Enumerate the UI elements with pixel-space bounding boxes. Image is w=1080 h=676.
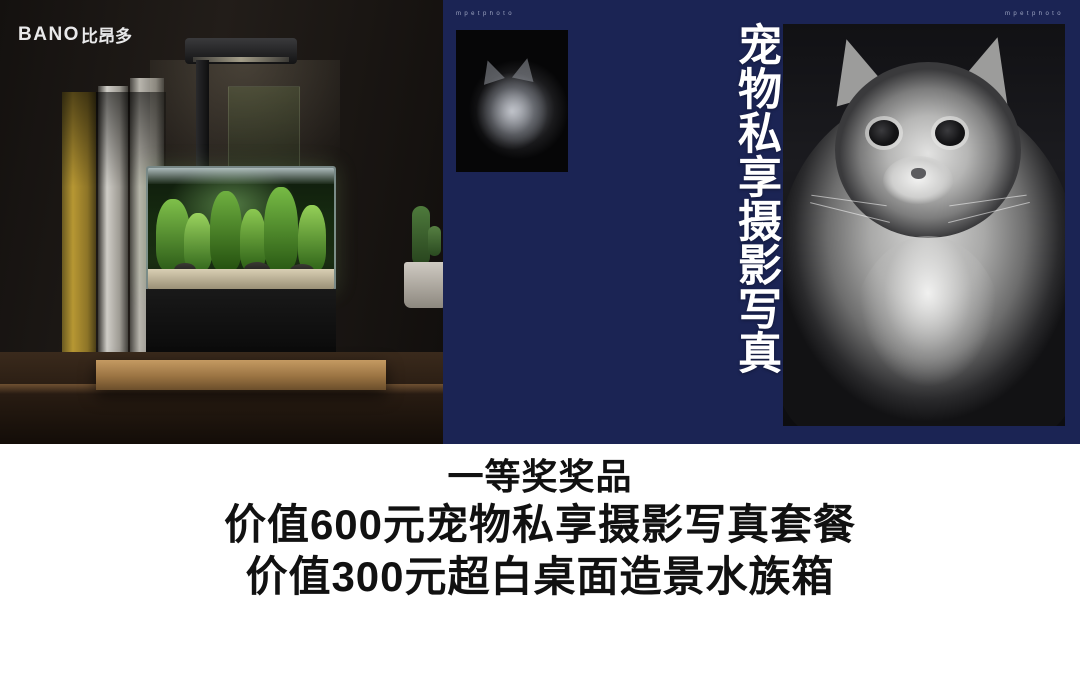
watermark-right: mpetphoto <box>1005 11 1064 17</box>
cat-nose <box>911 168 926 179</box>
aquatic-plant <box>184 213 212 271</box>
brand-logo-chinese: 比昂多 <box>81 22 132 47</box>
wooden-platform <box>96 360 386 390</box>
cat-portrait-photo <box>783 24 1065 426</box>
brand-logo-latin: BANO <box>18 24 80 46</box>
watermark-left: mpetphoto <box>456 11 515 17</box>
tank-top-glass <box>148 168 334 184</box>
tank-sand-bed <box>148 269 334 289</box>
book-spine: Decoration <box>98 86 128 364</box>
plant-pot <box>404 262 443 308</box>
prize-caption: 一等奖奖品 价值600元宠物私享摄影写真套餐 价值300元超白桌面造景水族箱 <box>0 455 1080 603</box>
caption-line-2: 价值600元宠物私享摄影写真套餐 <box>0 499 1080 551</box>
aquatic-plant <box>298 205 326 271</box>
cat-silhouette <box>470 68 554 164</box>
book-spine: Decoration <box>62 92 96 364</box>
cat-muzzle <box>883 156 953 206</box>
aquatic-plant <box>210 191 242 271</box>
prize-poster: Decoration Decoration Decoration <box>0 0 1080 676</box>
cat-chest-fur <box>853 236 1003 426</box>
aquatic-plant <box>264 187 298 271</box>
aquarium-tank <box>146 166 336 291</box>
cat-eye <box>935 120 965 146</box>
caption-line-1: 一等奖奖品 <box>0 455 1080 499</box>
cat-eye <box>869 120 899 146</box>
aquarium-photo: Decoration Decoration Decoration <box>0 0 443 444</box>
caption-line-3: 价值300元超白桌面造景水族箱 <box>0 551 1080 603</box>
brand-logo: BANO 比昂多 <box>18 22 132 47</box>
cactus-arm <box>428 226 441 256</box>
top-image-band: Decoration Decoration Decoration <box>0 0 1080 444</box>
vertical-title: 宠物私享摄影写真 <box>718 22 778 374</box>
cat-inset-photo <box>456 30 568 172</box>
